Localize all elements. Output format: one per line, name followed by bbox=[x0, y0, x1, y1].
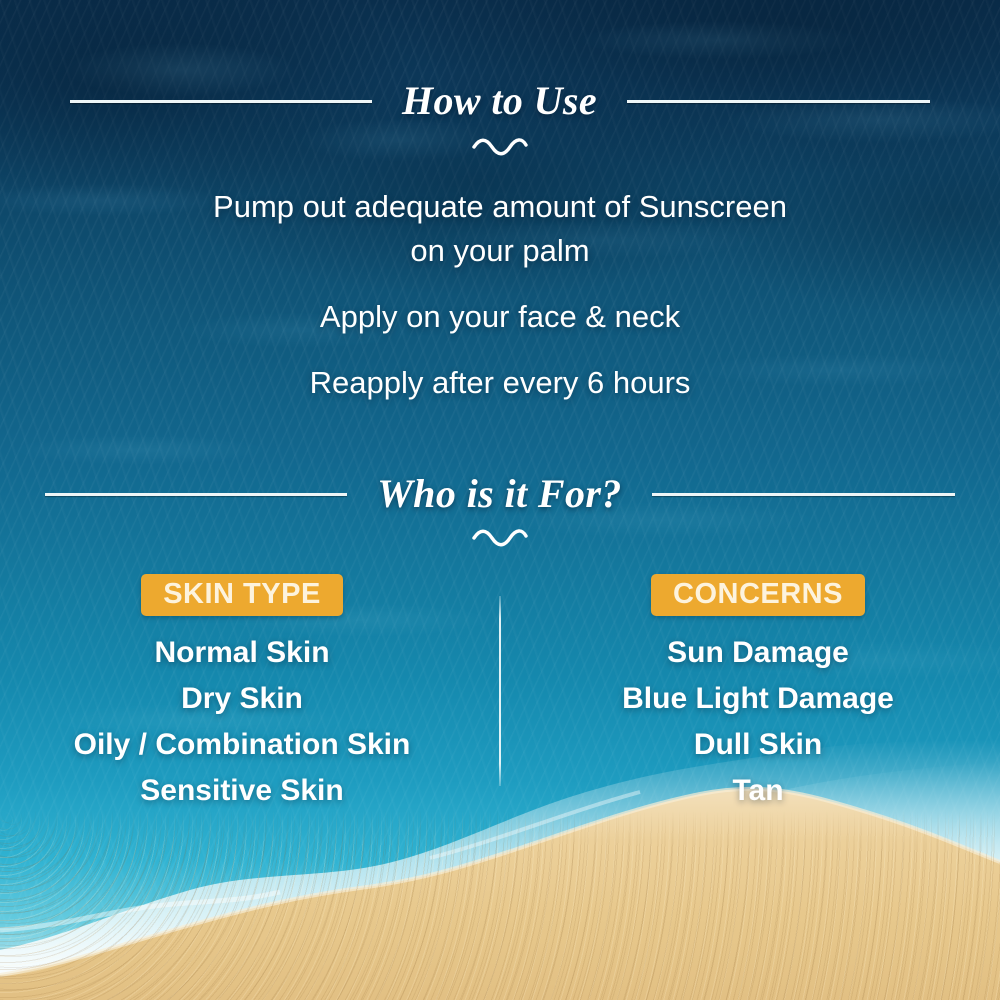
list-item: Dry Skin bbox=[0, 676, 484, 722]
how-to-use-header: How to Use bbox=[0, 80, 1000, 122]
step-item: Reapply after every 6 hours bbox=[0, 361, 1000, 405]
step-line: on your palm bbox=[0, 229, 1000, 273]
concerns-badge: CONCERNS bbox=[651, 574, 865, 616]
list-item: Tan bbox=[516, 768, 1000, 814]
ornament-squiggle-2 bbox=[0, 527, 1000, 554]
who-is-it-for-header: Who is it For? bbox=[0, 473, 1000, 515]
step-line: Apply on your face & neck bbox=[0, 295, 1000, 339]
step-item: Pump out adequate amount of Sunscreen on… bbox=[0, 185, 1000, 273]
how-to-use-title: How to Use bbox=[372, 81, 627, 121]
concerns-column: CONCERNS Sun Damage Blue Light Damage Du… bbox=[500, 574, 1000, 814]
wavy-squiggle-icon bbox=[470, 527, 530, 549]
list-item: Sun Damage bbox=[516, 630, 1000, 676]
step-line: Reapply after every 6 hours bbox=[0, 361, 1000, 405]
who-is-it-for-title: Who is it For? bbox=[347, 474, 652, 514]
list-item: Sensitive Skin bbox=[0, 768, 484, 814]
header-rule-left bbox=[70, 100, 372, 103]
step-item: Apply on your face & neck bbox=[0, 295, 1000, 339]
header-rule-left bbox=[45, 493, 347, 496]
column-divider bbox=[499, 596, 501, 786]
skin-type-badge: SKIN TYPE bbox=[141, 574, 343, 616]
list-item: Oily / Combination Skin bbox=[0, 722, 484, 768]
header-rule-right bbox=[627, 100, 930, 103]
wavy-squiggle-icon bbox=[470, 136, 530, 158]
step-line: Pump out adequate amount of Sunscreen bbox=[0, 185, 1000, 229]
list-item: Normal Skin bbox=[0, 630, 484, 676]
ornament-squiggle-1 bbox=[0, 136, 1000, 163]
list-item: Dull Skin bbox=[516, 722, 1000, 768]
skin-type-list: Normal Skin Dry Skin Oily / Combination … bbox=[0, 630, 484, 814]
header-rule-right bbox=[652, 493, 955, 496]
concerns-list: Sun Damage Blue Light Damage Dull Skin T… bbox=[516, 630, 1000, 814]
list-item: Blue Light Damage bbox=[516, 676, 1000, 722]
skin-type-column: SKIN TYPE Normal Skin Dry Skin Oily / Co… bbox=[0, 574, 500, 814]
how-to-use-steps: Pump out adequate amount of Sunscreen on… bbox=[0, 185, 1000, 405]
